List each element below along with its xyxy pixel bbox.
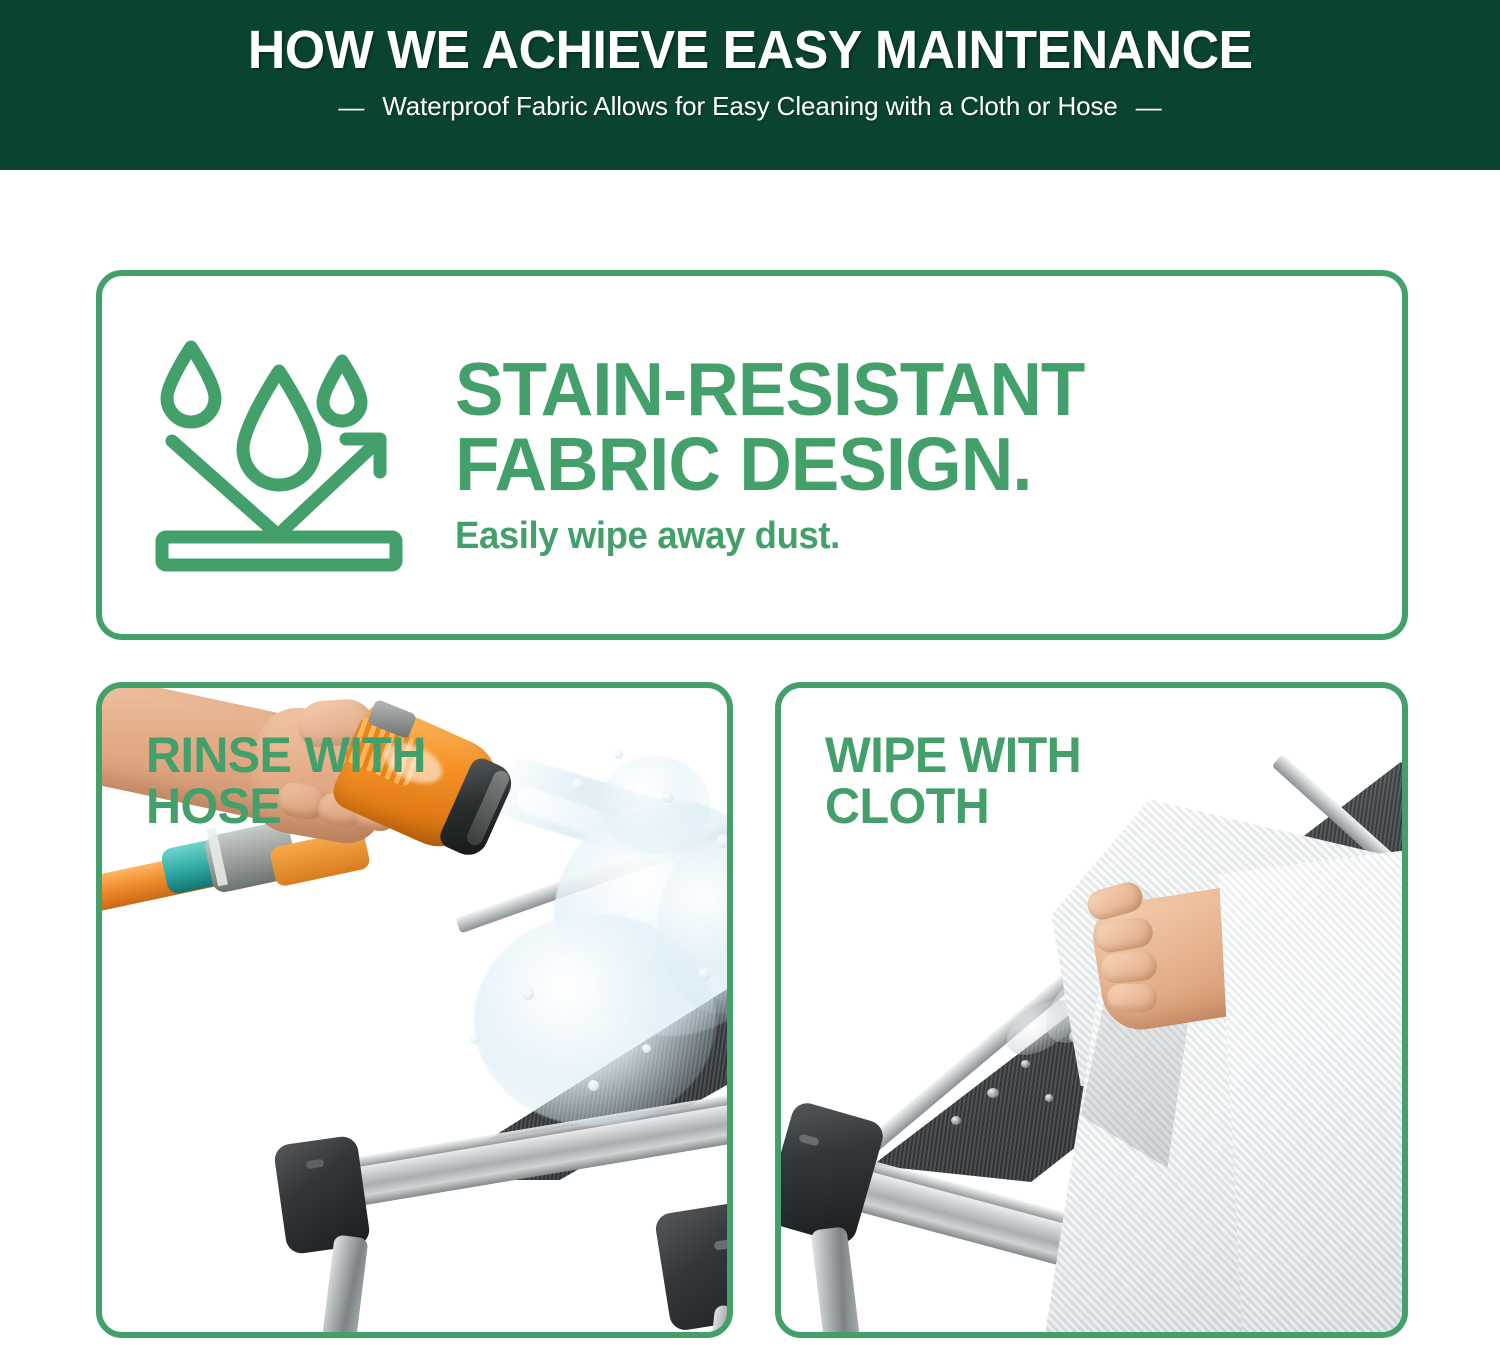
water-bead (1045, 1094, 1053, 1102)
page-title: HOW WE ACHIEVE EASY MAINTENANCE (248, 22, 1253, 78)
water-droplet (662, 792, 673, 803)
water-droplet (614, 750, 623, 759)
stain-resistant-feature-card: STAIN-RESISTANT FABRIC DESIGN. STAIN-RES… (96, 270, 1408, 640)
water-bead (1021, 1060, 1030, 1068)
rinse-with-hose-card: RINSE WITH HOSE (96, 682, 733, 1338)
water-droplet (698, 968, 710, 980)
microfiber-cloth-tail (1219, 844, 1402, 1332)
dash-right-icon: — (1136, 94, 1162, 120)
water-droplet (716, 834, 727, 848)
page-subtitle-row: — Waterproof Fabric Allows for Easy Clea… (338, 91, 1161, 122)
wipe-with-cloth-card: WIPE WITH CLOTH (775, 682, 1408, 1338)
water-droplet (588, 1080, 599, 1091)
water-repellent-icon (150, 329, 410, 582)
header-banner: HOW WE ACHIEVE EASY MAINTENANCE — Waterp… (0, 0, 1500, 170)
feature-headline-line-1: STAIN-RESISTANT (455, 352, 1084, 426)
feature-subtext: Easily wipe away dust. (455, 515, 1078, 558)
water-bead (987, 1088, 999, 1098)
water-droplet (522, 988, 534, 1000)
finger (1107, 984, 1157, 1012)
feature-text-block: STAIN-RESISTANT FABRIC DESIGN. STAIN-RES… (455, 352, 1104, 558)
rinse-with-hose-heading: RINSE WITH HOSE (146, 730, 426, 832)
water-bead (951, 1116, 961, 1125)
wipe-with-cloth-heading: WIPE WITH CLOTH (825, 730, 1081, 832)
water-splash-high (600, 756, 710, 854)
cot-corner-cap-left (781, 1099, 887, 1246)
cot-leg-left (810, 1226, 863, 1332)
feature-headline: STAIN-RESISTANT FABRIC DESIGN. STAIN-RES… (455, 352, 1084, 501)
water-droplet (642, 1044, 651, 1053)
water-droplet (572, 778, 585, 791)
page-subtitle: Waterproof Fabric Allows for Easy Cleani… (382, 91, 1118, 122)
water-droplet (470, 1034, 480, 1044)
dash-left-icon: — (338, 94, 364, 120)
feature-headline-line-2: FABRIC DESIGN. (455, 427, 1084, 501)
